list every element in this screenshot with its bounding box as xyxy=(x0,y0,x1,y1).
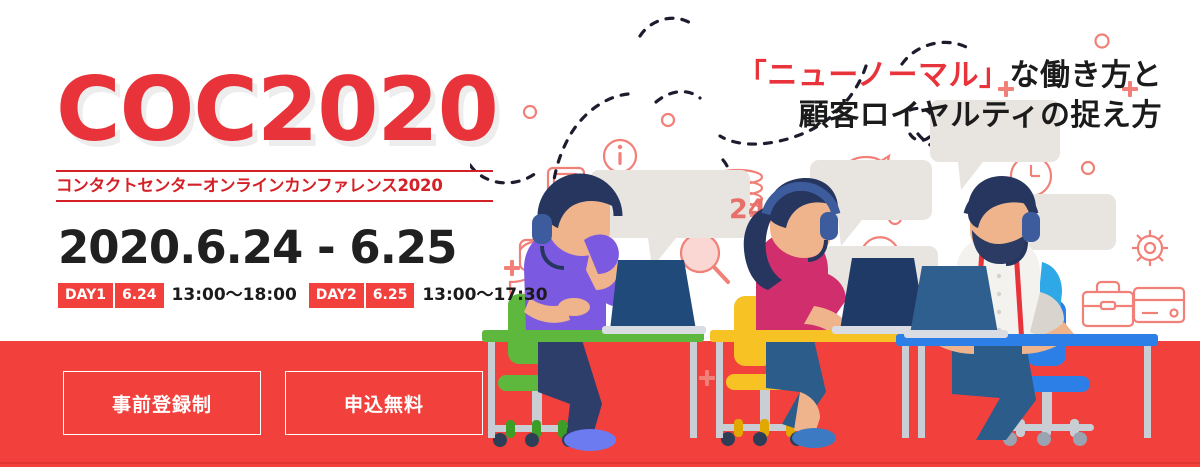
desk-leg xyxy=(918,342,925,438)
desk-leg xyxy=(1144,346,1151,438)
schedule-row: DAY1 6.24 13:00〜18:00 DAY2 6.25 13:00〜17… xyxy=(58,283,560,308)
laptop-base xyxy=(602,326,706,334)
laptop-screen xyxy=(910,266,998,334)
ring-icon xyxy=(662,114,674,126)
laptop-base xyxy=(904,330,1008,338)
ring-icon xyxy=(1082,162,1094,174)
briefcase-icon xyxy=(1083,282,1133,326)
plus-icon xyxy=(504,260,520,276)
day2-time: 13:00〜17:30 xyxy=(422,287,547,304)
agent-right xyxy=(896,176,1158,446)
ring-icon xyxy=(1096,35,1109,48)
headline-line-1: 「ニューノーマル」な働き方と xyxy=(737,56,1162,96)
headset-earcup xyxy=(820,212,838,240)
day1-badge: DAY1 xyxy=(58,283,113,308)
headset-earcup xyxy=(1022,212,1040,242)
headline: 「ニューノーマル」な働き方と 顧客ロイヤルティの捉え方 xyxy=(737,56,1162,136)
credit-card-icon xyxy=(1134,288,1184,322)
shoe xyxy=(792,428,836,448)
desk-leg xyxy=(716,342,723,438)
legs xyxy=(538,340,602,438)
plus-icon xyxy=(699,370,715,386)
shoe xyxy=(564,429,616,451)
day1-date-badge: 6.24 xyxy=(115,283,164,308)
day2-date-badge: 6.25 xyxy=(366,283,415,308)
event-date-range: 2020.6.24 - 6.25 xyxy=(58,225,456,270)
headset-earcup xyxy=(532,214,552,244)
desk-leg xyxy=(902,346,909,438)
headline-line-2: 顧客ロイヤルティの捉え方 xyxy=(737,96,1162,136)
hand xyxy=(558,298,590,316)
magnifier-icon xyxy=(681,234,728,282)
left-text-column: COC2020 コンタクトセンターオンラインカンファレンス2020 2020.6… xyxy=(0,0,500,341)
subtitle-rule-box: コンタクトセンターオンラインカンファレンス2020 xyxy=(56,170,493,202)
event-logo: COC2020 xyxy=(56,66,498,154)
desk-leg xyxy=(690,342,697,438)
event-banner: 24/7 xyxy=(0,0,1200,467)
chair-column xyxy=(760,390,770,424)
day2-badge: DAY2 xyxy=(309,283,364,308)
day1-time: 13:00〜18:00 xyxy=(172,287,297,304)
laptop-screen xyxy=(610,260,696,330)
desk-leg xyxy=(488,342,495,438)
free-application-button[interactable]: 申込無料 xyxy=(285,371,483,435)
chair-column xyxy=(532,391,542,425)
pre-registration-button[interactable]: 事前登録制 xyxy=(63,371,261,435)
headline-accent: 「ニューノーマル」 xyxy=(737,58,1010,93)
info-circle-icon xyxy=(604,140,636,172)
dashed-path-upper xyxy=(640,18,692,36)
gear-icon xyxy=(1132,230,1168,266)
ring-icon xyxy=(524,106,536,118)
event-subtitle: コンタクトセンターオンラインカンファレンス2020 xyxy=(56,176,493,197)
cta-button-row: 事前登録制 申込無料 xyxy=(63,371,483,435)
headline-line1-rest: な働き方と xyxy=(1010,58,1163,93)
dashed-path-left-top xyxy=(656,92,700,102)
